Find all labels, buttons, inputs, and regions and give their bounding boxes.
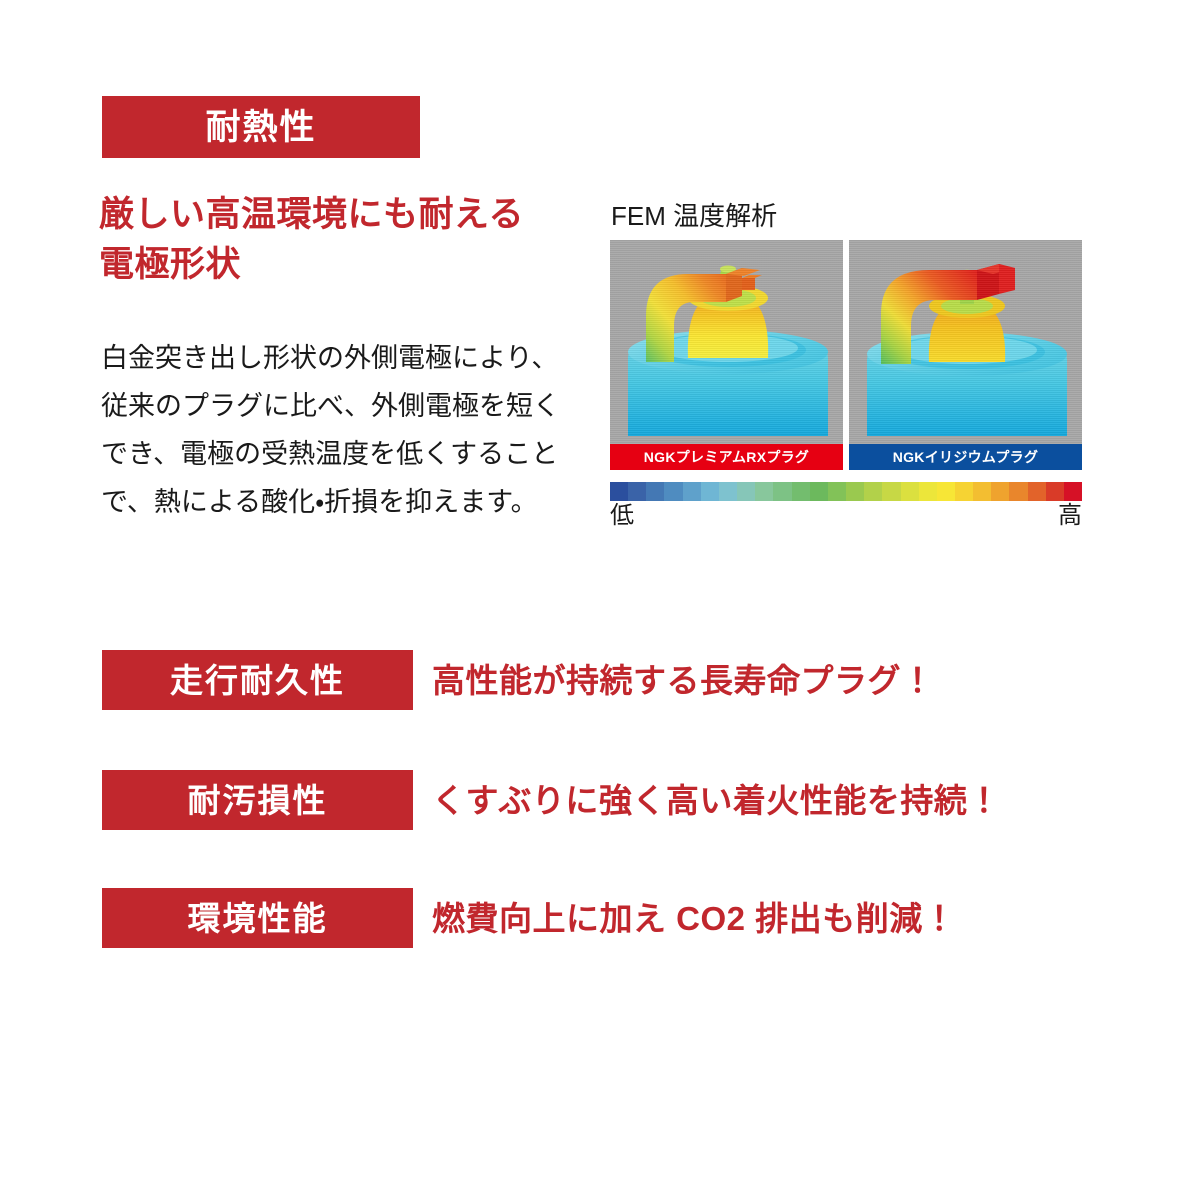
fem-scale-band-9: [773, 482, 791, 501]
feature-description-fouling-resistance: くすぶりに強く高い着火性能を持続！: [432, 770, 1001, 830]
fem-scale-band-18: [937, 482, 955, 501]
fem-scale-band-2: [646, 482, 664, 501]
feature-row: 耐汚損性 くすぶりに強く高い着火性能を持続！: [102, 770, 1102, 830]
fem-panel-premium-rx: NGKプレミアムRXプラグ: [610, 240, 843, 470]
fem-scale-high-label: 高: [1058, 504, 1082, 528]
feature-badge-environmental-performance: 環境性能: [102, 888, 413, 948]
fem-scale-band-21: [991, 482, 1009, 501]
heat-resistance-heading-line-2: 電極形状: [99, 240, 579, 290]
fem-caption-premium-rx-label: NGKプレミアムRXプラグ: [644, 450, 809, 464]
fem-temperature-color-scale: [610, 482, 1082, 501]
fem-caption-iridium: NGKイリジウムプラグ: [849, 444, 1082, 470]
fem-scale-band-20: [973, 482, 991, 501]
fem-scale-band-4: [683, 482, 701, 501]
fem-scale-band-17: [919, 482, 937, 501]
fem-scale-band-15: [882, 482, 900, 501]
fem-caption-iridium-label: NGKイリジウムプラグ: [893, 450, 1039, 464]
feature-badge-label: 耐汚損性: [188, 784, 328, 817]
fem-caption-premium-rx: NGKプレミアムRXプラグ: [610, 444, 843, 470]
heat-resistance-body: 白金突き出し形状の外側電極により、 従来のプラグに比べ、外側電極を短く でき、電…: [101, 334, 591, 526]
fem-scale-band-19: [955, 482, 973, 501]
feature-badge-label: 走行耐久性: [170, 664, 345, 697]
fem-scale-labels: 低 高: [610, 504, 1082, 532]
fem-scale-band-10: [792, 482, 810, 501]
heat-resistance-heading-line-1: 厳しい高温環境にも耐える: [99, 190, 579, 240]
fem-scale-band-1: [628, 482, 646, 501]
fem-scale-band-12: [828, 482, 846, 501]
fem-scale-band-6: [719, 482, 737, 501]
heat-resistance-badge: 耐熱性: [102, 96, 420, 158]
fem-scale-band-3: [664, 482, 682, 501]
fem-analysis-figure: NGKプレミアムRXプラグ: [610, 240, 1082, 530]
heat-resistance-body-line-3: でき、電極の受熱温度を低くすること: [101, 430, 591, 478]
feature-description-driving-durability: 高性能が持続する長寿命プラグ！: [432, 650, 935, 710]
fem-scale-band-24: [1046, 482, 1064, 501]
heat-resistance-badge-label: 耐熱性: [205, 110, 316, 145]
fem-scale-band-7: [737, 482, 755, 501]
feature-row: 走行耐久性 高性能が持続する長寿命プラグ！: [102, 650, 1102, 710]
heat-resistance-body-line-4: で、熱による酸化・折損を抑えます。: [101, 478, 591, 526]
fem-scale-band-25: [1064, 482, 1082, 501]
feature-badge-label: 環境性能: [188, 902, 328, 935]
feature-row: 環境性能 燃費向上に加え CO2 排出も削減！: [102, 888, 1102, 948]
heat-resistance-body-line-1: 白金突き出し形状の外側電極により、: [101, 334, 591, 382]
heat-resistance-body-line-2: 従来のプラグに比べ、外側電極を短く: [101, 382, 591, 430]
fem-scale-band-0: [610, 482, 628, 501]
fem-scale-low-label: 低: [610, 504, 634, 528]
fem-panel-iridium: NGKイリジウムプラグ: [849, 240, 1082, 470]
fem-scale-band-14: [864, 482, 882, 501]
feature-badge-driving-durability: 走行耐久性: [102, 650, 413, 710]
fem-render-premium-rx: [610, 240, 843, 444]
fem-panel-group: NGKプレミアムRXプラグ: [610, 240, 1082, 470]
fem-scale-band-13: [846, 482, 864, 501]
fem-scale-band-5: [701, 482, 719, 501]
fem-render-iridium: [849, 240, 1082, 444]
fem-scale-band-22: [1009, 482, 1027, 501]
spark-plug-thermal-render-rx-icon: [610, 240, 843, 444]
fem-scale-band-16: [901, 482, 919, 501]
fem-scale-band-8: [755, 482, 773, 501]
fem-scale-band-11: [810, 482, 828, 501]
fem-scale-band-23: [1028, 482, 1046, 501]
heat-resistance-heading: 厳しい高温環境にも耐える 電極形状: [99, 190, 579, 289]
spark-plug-thermal-render-iridium-icon: [849, 240, 1082, 444]
feature-badge-fouling-resistance: 耐汚損性: [102, 770, 413, 830]
feature-description-environmental-performance: 燃費向上に加え CO2 排出も削減！: [432, 888, 956, 948]
fem-analysis-title: FEM 温度解析: [611, 203, 777, 229]
